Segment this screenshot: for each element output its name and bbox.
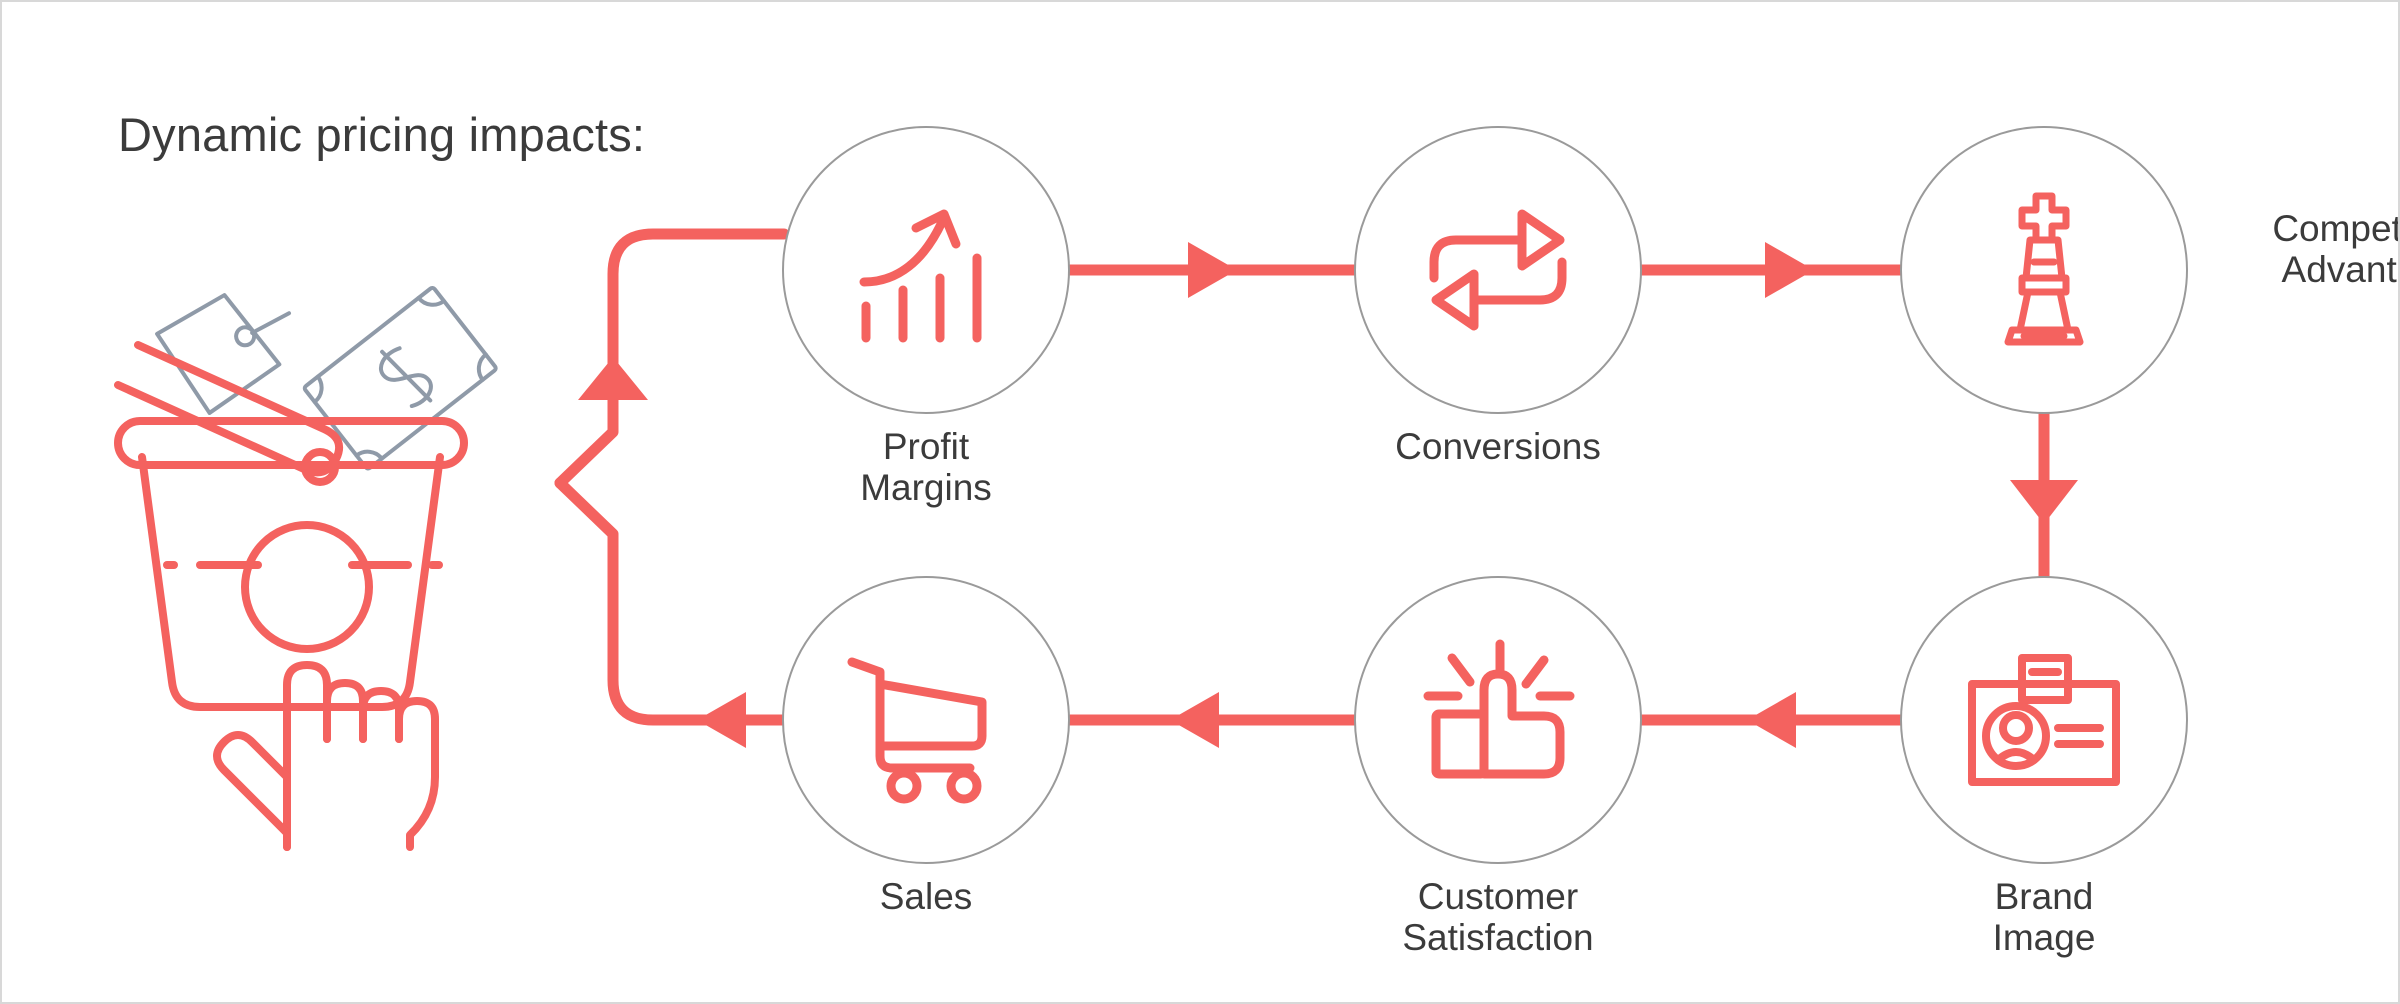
growth-chart-arrow-icon bbox=[846, 190, 1006, 350]
repeat-exchange-arrows-icon bbox=[1418, 190, 1578, 350]
chess-king-icon bbox=[1964, 190, 2124, 350]
arrowhead-left-customer-satisfaction bbox=[1747, 692, 1796, 748]
diagram-canvas: Dynamic pricing impacts: bbox=[0, 0, 2400, 1004]
page-title: Dynamic pricing impacts: bbox=[118, 107, 645, 162]
arrowhead-right-conversions bbox=[1188, 242, 1237, 298]
node-label: Profit Margins bbox=[854, 426, 998, 509]
node-label: Conversions bbox=[1395, 426, 1601, 467]
node-competitive-advantage[interactable]: Competitive Advantage bbox=[1900, 126, 2188, 414]
wire-brace-to-profit-margins bbox=[560, 234, 784, 483]
node-label: Sales bbox=[880, 876, 973, 917]
pointing-hand-icon bbox=[217, 525, 435, 847]
arrowhead-up-profit-margins bbox=[578, 357, 648, 400]
thumbs-up-icon bbox=[1418, 640, 1578, 800]
wire-sales-to-brace bbox=[560, 483, 784, 720]
node-label: Competitive Advantage bbox=[2210, 208, 2400, 291]
arrowhead-left-sales bbox=[1170, 692, 1219, 748]
arrowhead-down-brand-image bbox=[2010, 480, 2078, 524]
id-badge-card-icon bbox=[1964, 640, 2124, 800]
arrowhead-right-competitive-advantage bbox=[1765, 242, 1814, 298]
shopping-cart-icon bbox=[846, 640, 1006, 800]
shopping-basket-illustration bbox=[112, 287, 532, 847]
node-conversions[interactable]: Conversions bbox=[1354, 126, 1642, 414]
node-customer-satisfaction[interactable]: Customer Satisfaction bbox=[1354, 576, 1642, 864]
node-sales[interactable]: Sales bbox=[782, 576, 1070, 864]
node-label: Brand Image bbox=[1972, 876, 2116, 959]
node-label: Customer Satisfaction bbox=[1402, 876, 1593, 959]
node-profit-margins[interactable]: Profit Margins bbox=[782, 126, 1070, 414]
arrowhead-left-brace bbox=[697, 692, 746, 748]
node-brand-image[interactable]: Brand Image bbox=[1900, 576, 2188, 864]
